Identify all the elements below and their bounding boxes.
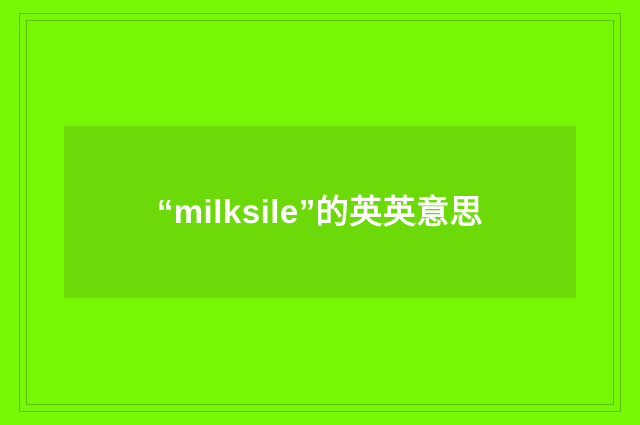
title-plate: “milksile”的英英意思 xyxy=(64,126,576,298)
page-title: “milksile”的英英意思 xyxy=(155,181,485,244)
poster-canvas: “milksile”的英英意思 xyxy=(0,0,640,425)
